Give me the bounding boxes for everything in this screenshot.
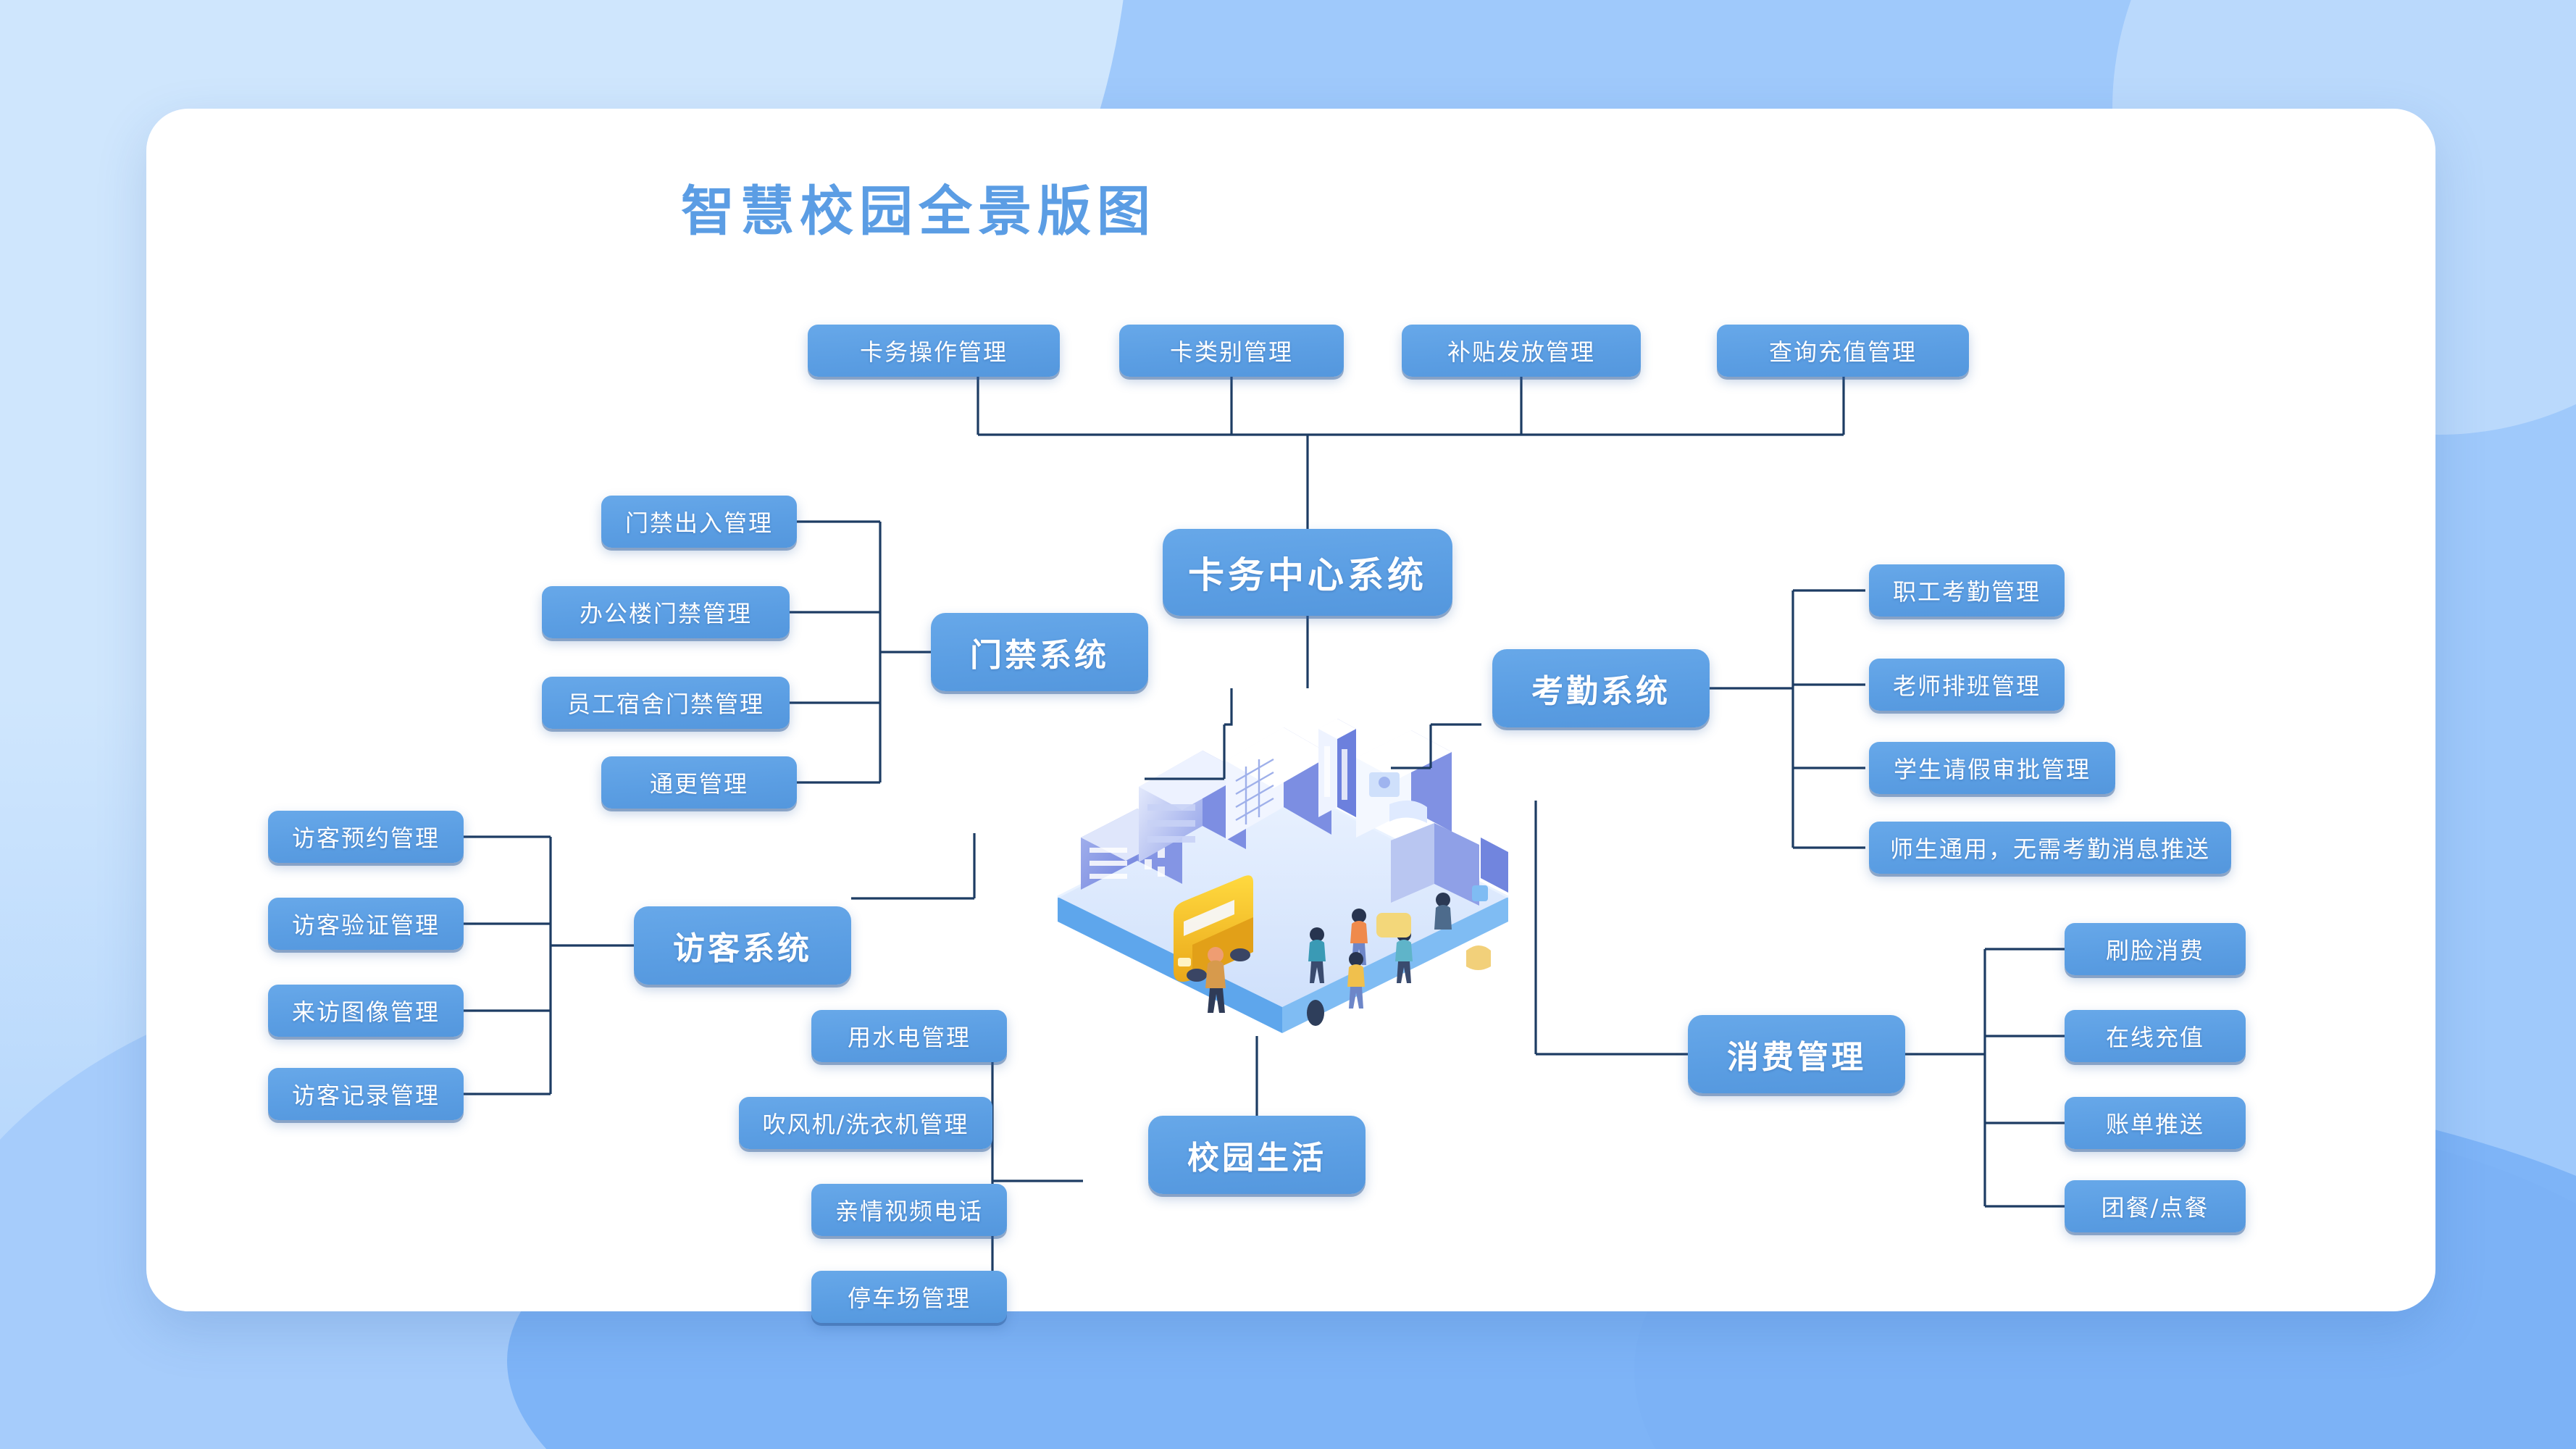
node-card-center-system[interactable]: 卡务中心系统	[1163, 529, 1452, 616]
node-visitor-system[interactable]: 访客系统	[634, 906, 851, 985]
node-group-meal-ordering[interactable]: 团餐/点餐	[2065, 1180, 2246, 1232]
node-online-recharge[interactable]: 在线充值	[2065, 1010, 2246, 1062]
node-office-building-access-management[interactable]: 办公楼门禁管理	[542, 586, 790, 638]
node-card-operation-management[interactable]: 卡务操作管理	[808, 325, 1060, 377]
node-staff-dorm-access-management[interactable]: 员工宿舍门禁管理	[542, 677, 790, 729]
node-channel-management[interactable]: 通更管理	[601, 756, 797, 809]
node-universal-contactless-attendance-push[interactable]: 师生通用，无需考勤消息推送	[1869, 822, 2231, 874]
node-visitor-verification-management[interactable]: 访客验证管理	[268, 898, 464, 950]
node-query-recharge-management[interactable]: 查询充值管理	[1717, 325, 1969, 377]
node-visitor-image-management[interactable]: 来访图像管理	[268, 985, 464, 1037]
page-title: 智慧校园全景版图	[681, 168, 1156, 246]
node-student-leave-approval-management[interactable]: 学生请假审批管理	[1869, 742, 2115, 794]
node-access-entry-exit-management[interactable]: 门禁出入管理	[601, 496, 797, 548]
node-family-video-call[interactable]: 亲情视频电话	[811, 1184, 1007, 1236]
node-face-recognition-payment[interactable]: 刷脸消费	[2065, 923, 2246, 975]
node-bill-push[interactable]: 账单推送	[2065, 1097, 2246, 1149]
node-visitor-appointment-management[interactable]: 访客预约管理	[268, 811, 464, 863]
node-consumption-management[interactable]: 消费管理	[1688, 1015, 1905, 1093]
node-card-category-management[interactable]: 卡类别管理	[1119, 325, 1344, 377]
node-subsidy-issuance-management[interactable]: 补贴发放管理	[1402, 325, 1641, 377]
node-hairdryer-washer-management[interactable]: 吹风机/洗衣机管理	[739, 1097, 992, 1149]
node-attendance-system[interactable]: 考勤系统	[1492, 649, 1710, 727]
node-staff-attendance-management[interactable]: 职工考勤管理	[1869, 564, 2065, 617]
node-campus-life[interactable]: 校园生活	[1148, 1116, 1366, 1194]
node-water-electricity-management[interactable]: 用水电管理	[811, 1010, 1007, 1062]
node-parking-lot-management[interactable]: 停车场管理	[811, 1271, 1007, 1323]
node-access-control-system[interactable]: 门禁系统	[931, 613, 1148, 691]
isometric-smart-campus-illustration	[1029, 696, 1536, 1036]
node-visitor-record-management[interactable]: 访客记录管理	[268, 1068, 464, 1120]
node-teacher-schedule-management[interactable]: 老师排班管理	[1869, 659, 2065, 711]
